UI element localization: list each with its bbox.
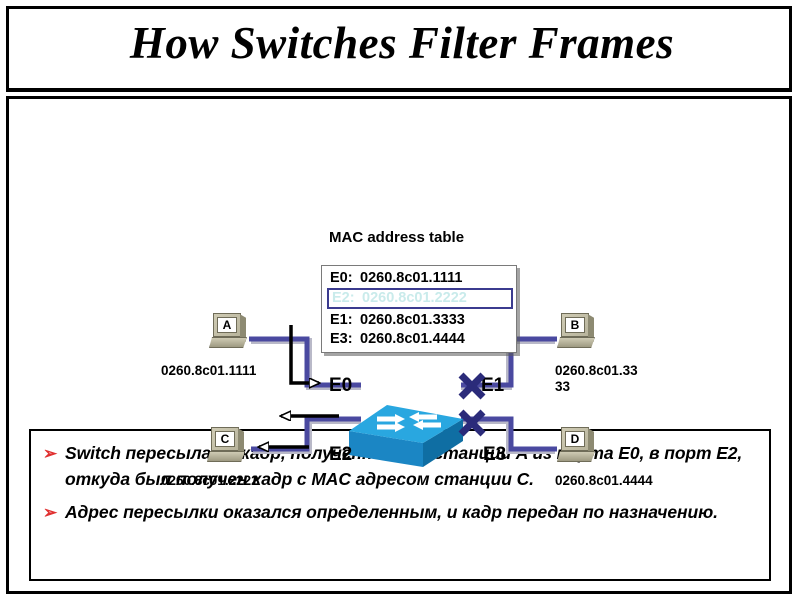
slide: How Switches Filter Frames: [0, 0, 800, 600]
blocked-port-marks: [461, 375, 483, 434]
network-diagram: MAC address table E0:0260.8c01.1111 E2:0…: [9, 99, 789, 419]
page-title: How Switches Filter Frames: [9, 17, 795, 69]
content-frame: MAC address table E0:0260.8c01.1111 E2:0…: [6, 96, 792, 594]
flow-overlay-layer: [9, 99, 789, 519]
flow-arrow-into-e0: [291, 325, 319, 383]
title-frame: How Switches Filter Frames: [6, 6, 792, 92]
block-x-e1: [461, 375, 483, 397]
block-x-e3: [461, 412, 483, 434]
